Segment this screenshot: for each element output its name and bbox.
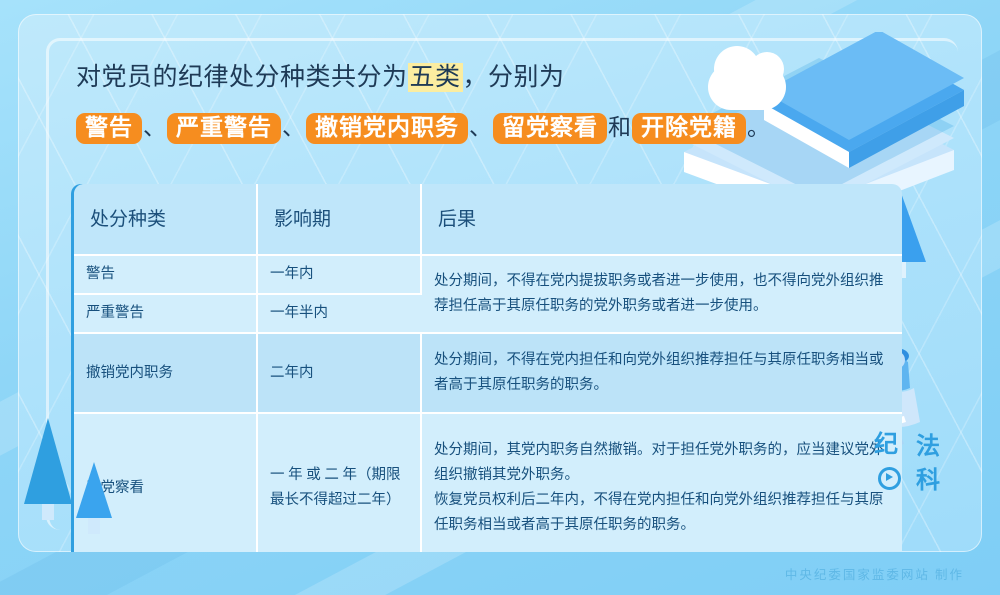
play-icon [878, 467, 901, 490]
cell-period: 一年内 [257, 255, 421, 294]
heading-text-pre: 对党员的纪律处分种类共分为 [76, 64, 408, 91]
cloud-icon [708, 64, 786, 110]
badge-separator: 、 [282, 115, 305, 140]
content-card: 对党员的纪律处分种类共分为五类，分别为 警告、严重警告、撤销党内职务、留党察看和… [18, 14, 982, 552]
cell-consequence: 处分期间，不得在党内担任和向党外组织推荐担任与其原任职务相当或者高于其原任职务的… [421, 333, 902, 413]
badge-expulsion: 开除党籍 [632, 113, 746, 144]
consequence-paragraph: 处分期间，其党内职务自然撤销。对于担任党外职务的，应当建议党外组织撤销其党外职务… [434, 438, 890, 488]
table-body: 警告 一年内 处分期间，不得在党内提拔职务或者进一步使用，也不得向党外组织推荐担… [74, 255, 902, 552]
badge-revoke-post: 撤销党内职务 [306, 113, 468, 144]
table-row: 留党察看 一 年 或 二 年（期限最长不得超过二年） 处分期间，其党内职务自然撤… [74, 413, 902, 552]
badge-probation: 留党察看 [493, 113, 607, 144]
tree-icon [76, 462, 112, 518]
badge-separator: 、 [469, 115, 492, 140]
infographic-canvas: 对党员的纪律处分种类共分为五类，分别为 警告、严重警告、撤销党内职务、留党察看和… [0, 0, 1000, 595]
logo-glyph-fa: 法 [916, 434, 940, 460]
table-head: 处分种类 影响期 后果 [74, 184, 902, 255]
tree-icon [24, 418, 72, 504]
cell-consequence: 处分期间，不得在党内提拔职务或者进一步使用，也不得向党外组织推荐担任高于其原任职… [421, 255, 902, 333]
badge-warning: 警告 [76, 113, 142, 144]
consequence-paragraph: 恢复党员权利后二年内，不得在党内担任和向党外组织推荐担任与其原任职务相当或者高于… [434, 488, 890, 538]
cell-type: 严重警告 [74, 294, 257, 333]
cell-consequence: 处分期间，其党内职务自然撤销。对于担任党外职务的，应当建议党外组织撤销其党外职务… [421, 413, 902, 552]
badge-conjunction: 和 [608, 115, 631, 140]
column-header-consequence: 后果 [421, 184, 902, 255]
cell-period: 一年半内 [257, 294, 421, 333]
column-header-type: 处分种类 [74, 184, 257, 255]
heading-highlight: 五类 [408, 63, 463, 92]
table-row: 警告 一年内 处分期间，不得在党内提拔职务或者进一步使用，也不得向党外组织推荐担… [74, 255, 902, 294]
footer-credit: 中央纪委国家监委网站 制作 [0, 564, 964, 583]
heading-block: 对党员的纪律处分种类共分为五类，分别为 警告、严重警告、撤销党内职务、留党察看和… [76, 58, 716, 147]
heading-line-1: 对党员的纪律处分种类共分为五类，分别为 [76, 58, 716, 98]
heading-line-2: 警告、严重警告、撤销党内职务、留党察看和开除党籍。 [76, 108, 716, 147]
cell-period: 一 年 或 二 年（期限最长不得超过二年） [257, 413, 421, 552]
cell-type: 撤销党内职务 [74, 333, 257, 413]
brand-logo: 纪 法 百 科 [874, 432, 940, 494]
badge-separator: 、 [143, 115, 166, 140]
table-header-row: 处分种类 影响期 后果 [74, 184, 902, 255]
heading-period: 。 [747, 115, 770, 140]
badge-serious-warning: 严重警告 [167, 113, 281, 144]
cell-period: 二年内 [257, 333, 421, 413]
cell-type: 警告 [74, 255, 257, 294]
column-header-period: 影响期 [257, 184, 421, 255]
logo-glyph-ji: 纪 [874, 432, 898, 458]
heading-text-post: ，分别为 [463, 64, 565, 91]
logo-glyph-ke: 科 [916, 468, 940, 494]
table-row: 撤销党内职务 二年内 处分期间，不得在党内担任和向党外组织推荐担任与其原任职务相… [74, 333, 902, 413]
penalty-table: 处分种类 影响期 后果 警告 一年内 处分期间，不得在党内提拔职务或者进一步使用… [74, 184, 902, 552]
